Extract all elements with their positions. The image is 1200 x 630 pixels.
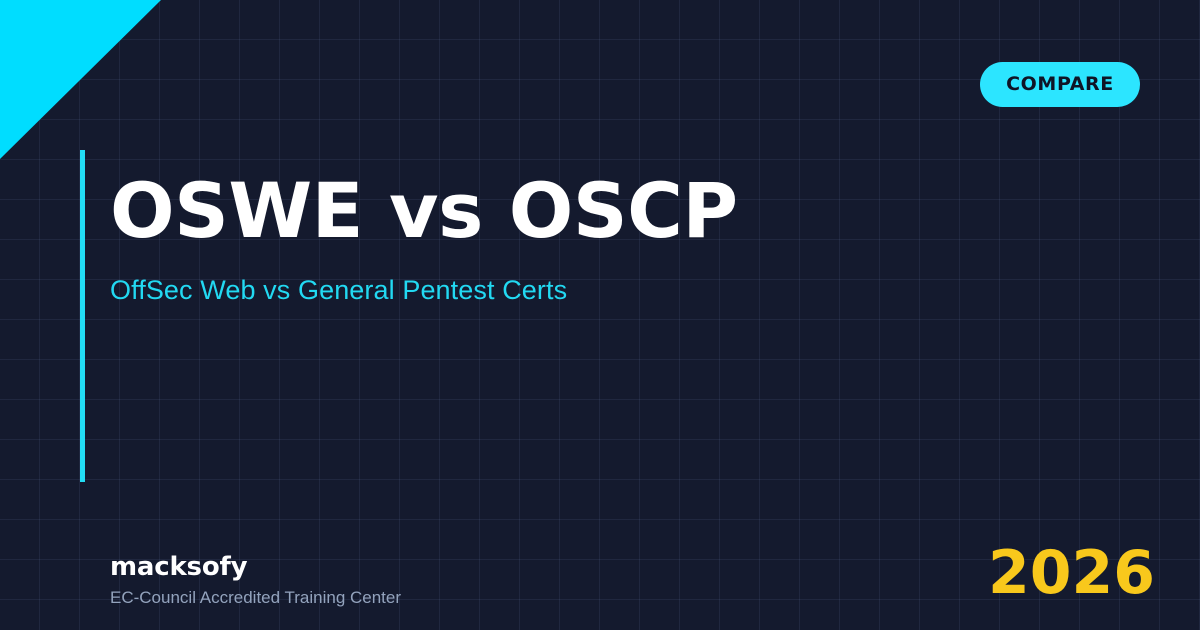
page-title: OSWE vs OSCP bbox=[110, 172, 1070, 250]
compare-badge[interactable]: COMPARE bbox=[980, 62, 1140, 107]
page-subtitle: OffSec Web vs General Pentest Certs bbox=[110, 250, 1070, 306]
social-card: COMPARE OSWE vs OSCP OffSec Web vs Gener… bbox=[0, 0, 1200, 630]
brand-tagline: EC-Council Accredited Training Center bbox=[110, 582, 401, 608]
hero-text-block: OSWE vs OSCP OffSec Web vs General Pente… bbox=[110, 172, 1070, 306]
vertical-accent-bar bbox=[80, 150, 85, 482]
brand-block: macksofy EC-Council Accredited Training … bbox=[110, 553, 401, 608]
brand-name: macksofy bbox=[110, 553, 401, 582]
corner-triangle-decoration bbox=[0, 0, 161, 159]
year-label: 2026 bbox=[988, 543, 1155, 603]
compare-badge-label: COMPARE bbox=[1006, 75, 1114, 94]
